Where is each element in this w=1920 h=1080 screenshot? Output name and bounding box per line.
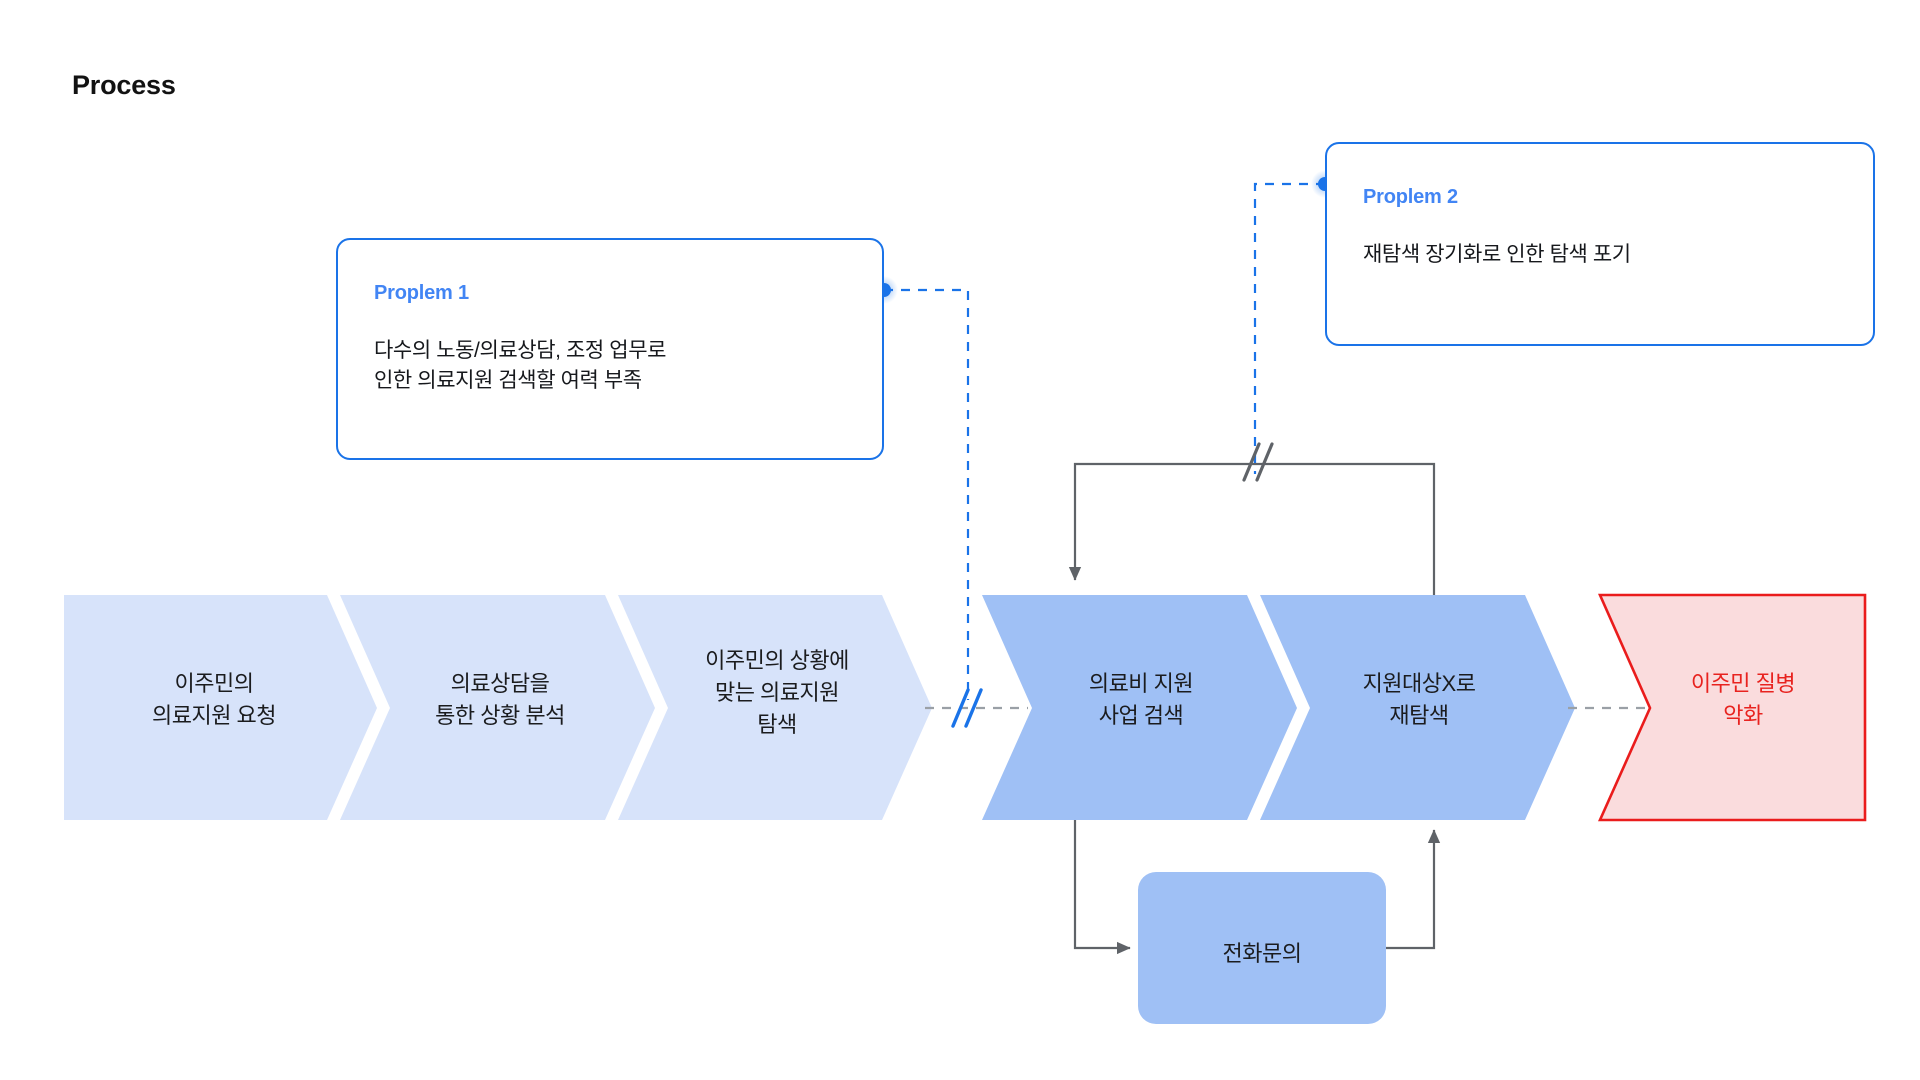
callout-problem-2-title: Proplem 2 <box>1363 186 1458 209</box>
connector-step4-to-phone <box>1075 820 1130 948</box>
step-chevron-1[interactable] <box>64 595 377 820</box>
connector-phone-to-step5 <box>1386 830 1434 948</box>
leader-problem-2 <box>1255 184 1325 474</box>
step-chevron-2[interactable] <box>340 595 655 820</box>
callout-problem-1[interactable]: Proplem 1 다수의 노동/의료상담, 조정 업무로 인한 의료지원 검색… <box>336 238 884 460</box>
callout-problem-2-body: 재탐색 장기화로 인한 탐색 포기 <box>1363 240 1631 270</box>
loop-top-path <box>1075 464 1434 595</box>
callout-problem-1-body: 다수의 노동/의료상담, 조정 업무로 인한 의료지원 검색할 여력 부족 <box>374 336 666 396</box>
step-chevron-4[interactable] <box>982 595 1297 820</box>
callout-problem-2[interactable]: Proplem 2 재탐색 장기화로 인한 탐색 포기 <box>1325 142 1875 346</box>
phone-enquiry-node[interactable] <box>1138 872 1386 1024</box>
step-chevron-3[interactable] <box>618 595 932 820</box>
callout-problem-1-title: Proplem 1 <box>374 282 469 305</box>
break-marker-problem-2 <box>1244 444 1272 480</box>
diagram-canvas: Process <box>0 0 1920 1080</box>
step-chevron-5[interactable] <box>1260 595 1575 820</box>
